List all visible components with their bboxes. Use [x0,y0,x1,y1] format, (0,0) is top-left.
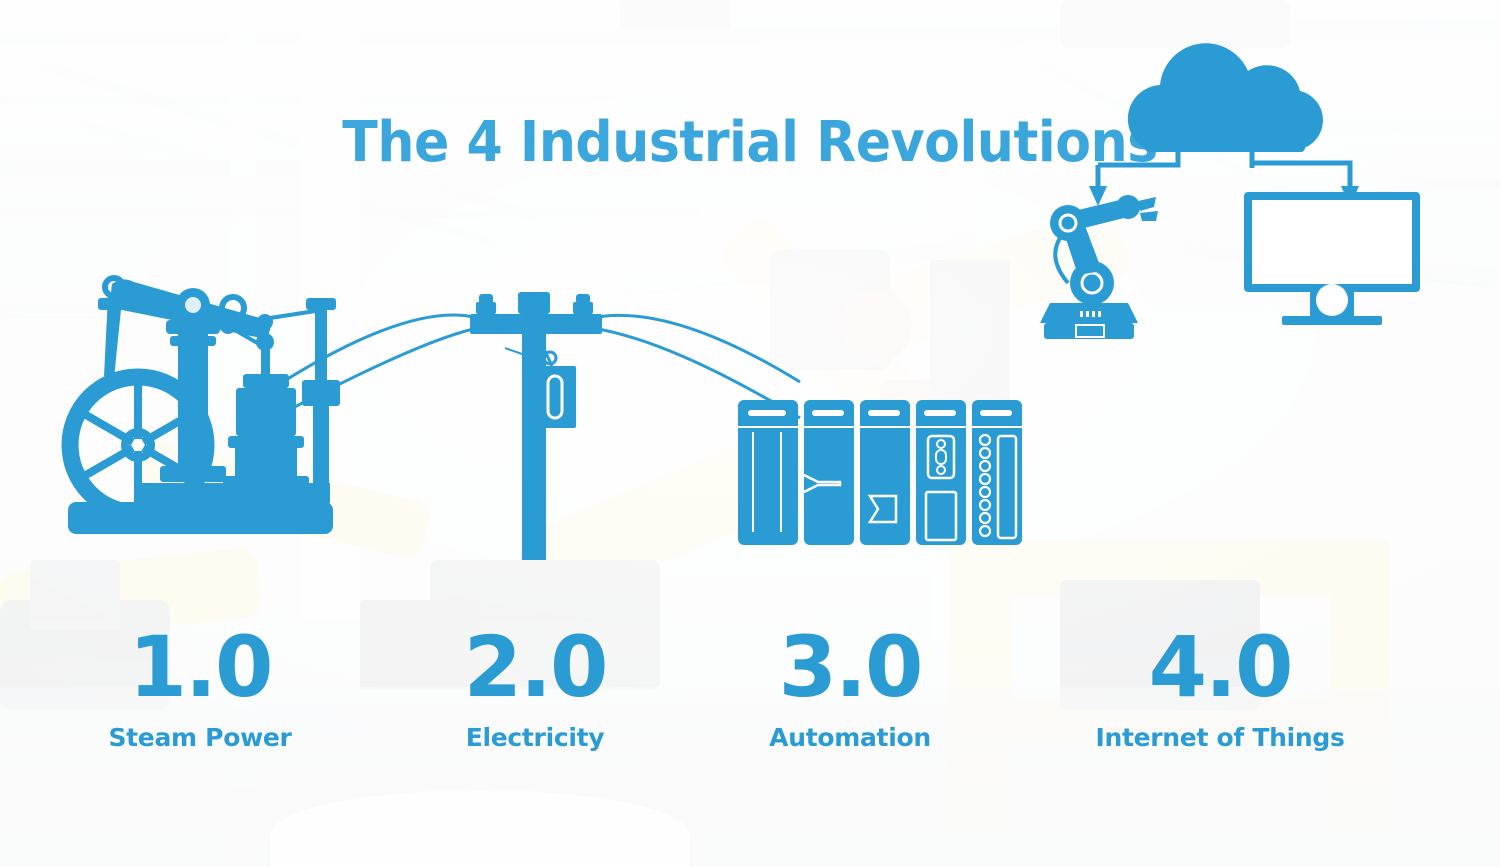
stage-1-icon-wrap [30,270,370,560]
stage-4-label: Internet of Things [1020,723,1420,752]
infographic-canvas: The 4 Industrial Revolutions [0,0,1500,867]
utility-pole-icon [400,270,670,560]
stage-4-icon-wrap [1020,0,1420,560]
stage-1-label: Steam Power [30,723,370,752]
monitor-icon [1242,190,1422,330]
stage-2-label: Electricity [400,723,670,752]
stage-3-number: 3.0 [700,625,1000,709]
stage-2-number: 2.0 [400,625,670,709]
stage-1: 1.0 Steam Power [30,0,370,867]
stage-1-number: 1.0 [30,625,370,709]
steam-engine-icon [30,270,370,560]
stage-3: 3.0 Automation [700,0,1000,867]
stage-2-icon-wrap [400,270,670,560]
stage-3-label: Automation [700,723,1000,752]
stage-2: 2.0 Electricity [400,0,670,867]
stage-4-number: 4.0 [1020,625,1420,709]
stage-3-icon-wrap [700,270,1000,560]
robot-arm-icon [1028,195,1168,345]
stages-row: 1.0 Steam Power [0,0,1500,867]
plc-modules-icon [700,270,1000,560]
stage-4: 4.0 Internet of Things [1020,0,1420,867]
cloud-icon [1128,43,1323,152]
